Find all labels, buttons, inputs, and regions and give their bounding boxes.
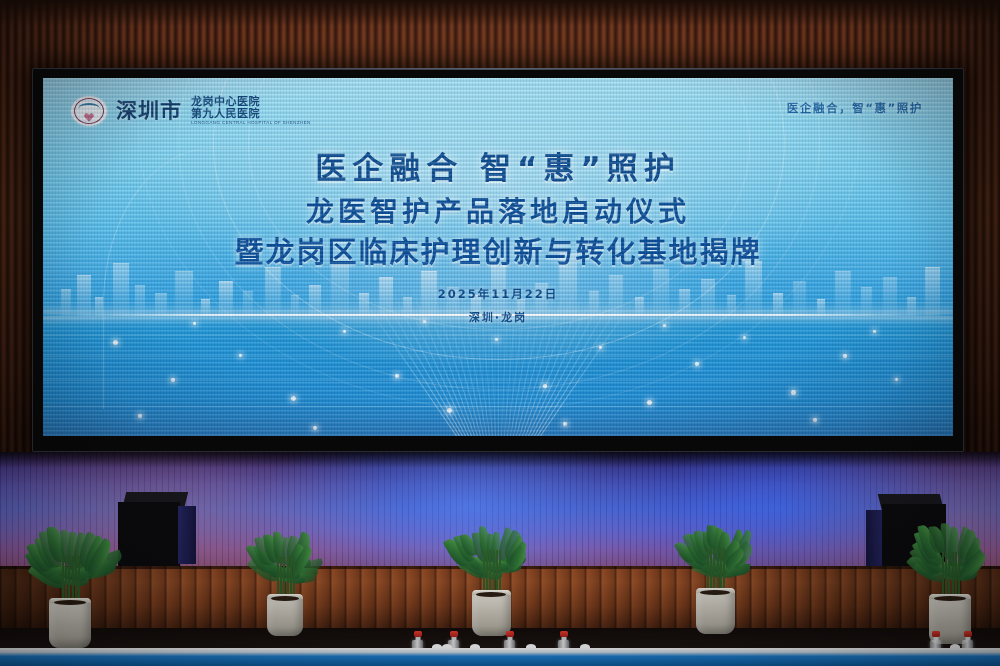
monitor-side-panel — [178, 506, 196, 564]
plant-stalk — [287, 557, 289, 594]
potted-plant — [690, 508, 740, 636]
potted-plant — [466, 510, 516, 638]
bottle-cap — [506, 631, 514, 637]
hospital-city-label: 深圳市 — [116, 101, 182, 122]
plant-stalk — [489, 550, 491, 590]
bezel-highlight — [32, 68, 964, 70]
bottle-cap — [560, 631, 568, 637]
glow-node-icon — [695, 362, 699, 366]
title-line-1: 医企融合 智“惠”照护 — [43, 154, 953, 185]
pot-soil — [700, 590, 730, 595]
stage-monitor-speaker — [118, 492, 200, 570]
plant-stalk — [948, 552, 950, 594]
glow-node-icon — [543, 384, 547, 388]
plant-stalk — [68, 556, 70, 598]
pot-soil — [271, 596, 298, 601]
plant-stalk — [293, 557, 295, 594]
plant-stalk — [713, 548, 715, 588]
plant-stalk — [78, 556, 80, 598]
glow-node-icon — [895, 378, 898, 381]
glow-node-icon — [813, 418, 817, 422]
plant-foliage — [262, 520, 308, 594]
glow-node-icon — [395, 374, 399, 378]
glow-node-icon — [447, 408, 452, 413]
glow-node-icon — [599, 346, 602, 349]
plant-stalk — [72, 556, 74, 598]
led-screen-bezel: 深圳市 龙岗中心医院 第九人民医院 LONGGANG CENTRAL HOSPI… — [32, 68, 964, 452]
glow-node-icon — [138, 414, 142, 418]
glow-node-icon — [647, 400, 652, 405]
plant-stalk — [493, 550, 495, 590]
led-screen-display: 深圳市 龙岗中心医院 第九人民医院 LONGGANG CENTRAL HOSPI… — [43, 78, 953, 436]
conference-hall-scene: 深圳市 龙岗中心医院 第九人民医院 LONGGANG CENTRAL HOSPI… — [0, 0, 1000, 666]
plant-foliage — [42, 514, 98, 598]
bottle-cap — [964, 631, 972, 637]
monitor-front-grille — [118, 502, 180, 568]
plant-foliage — [466, 510, 516, 590]
pot-soil — [934, 596, 966, 601]
plant-stalk — [486, 550, 488, 590]
plant-stalk — [723, 548, 725, 588]
potted-plant — [42, 514, 98, 650]
plant-pot — [472, 590, 511, 636]
bottle-cap — [414, 631, 422, 637]
plant-foliage — [690, 508, 740, 588]
event-place: 深圳·龙岗 — [43, 309, 953, 325]
plant-stalk — [283, 557, 285, 594]
pot-soil — [54, 600, 86, 605]
plant-stalk — [720, 548, 722, 588]
glow-node-icon — [563, 422, 567, 426]
event-date: 2025年11月22日 — [43, 286, 953, 302]
plant-stalk — [75, 556, 77, 598]
front-table-edge — [0, 648, 1000, 650]
plant-stalk — [942, 552, 944, 594]
corner-slogan: 医企融合，智“惠”照护 — [787, 100, 923, 116]
stage-back-shadow — [0, 452, 1000, 468]
glow-node-icon — [843, 354, 847, 358]
glow-node-icon — [313, 426, 317, 430]
plant-stalk — [499, 550, 501, 590]
pot-soil — [476, 592, 506, 597]
bottle-cap — [932, 631, 940, 637]
glow-node-icon — [791, 390, 796, 395]
glow-node-icon — [291, 396, 296, 401]
plant-stalk — [290, 557, 292, 594]
glow-node-icon — [239, 354, 242, 357]
plant-stalk — [717, 548, 719, 588]
hospital-name-line2: 第九人民医院 — [191, 108, 311, 120]
plant-stalk — [277, 557, 279, 594]
plant-stalk — [710, 548, 712, 588]
title-line-2: 龙医智护产品落地启动仪式 — [43, 198, 953, 226]
plant-stalk — [945, 552, 947, 594]
glow-node-icon — [743, 336, 746, 339]
screen-title-block: 医企融合 智“惠”照护 龙医智护产品落地启动仪式 暨龙岗区临床护理创新与转化基地… — [43, 154, 953, 325]
glow-node-icon — [873, 330, 876, 333]
plant-stalk — [707, 548, 709, 588]
glow-node-icon — [171, 378, 175, 382]
plant-stalk — [952, 552, 954, 594]
seal-arc-icon — [78, 103, 100, 115]
plant-stalk — [65, 556, 67, 598]
plant-stalk — [955, 552, 957, 594]
front-table-skirt — [0, 648, 1000, 666]
ceiling-shadow — [0, 0, 1000, 26]
plant-stalk — [483, 550, 485, 590]
plant-stalk — [62, 556, 64, 598]
hospital-name-stack: 龙岗中心医院 第九人民医院 LONGGANG CENTRAL HOSPITAL … — [191, 96, 311, 126]
hospital-seal-icon — [71, 96, 107, 126]
glow-node-icon — [113, 340, 118, 345]
plant-foliage — [922, 510, 978, 594]
hospital-logo: 深圳市 龙岗中心医院 第九人民医院 LONGGANG CENTRAL HOSPI… — [71, 96, 311, 126]
potted-plant — [262, 520, 308, 638]
title-line-3: 暨龙岗区临床护理创新与转化基地揭牌 — [43, 238, 953, 267]
hospital-name-line1: 龙岗中心医院 — [191, 96, 311, 108]
bottle-cap — [450, 631, 458, 637]
plant-pot — [267, 594, 303, 636]
plant-pot — [49, 598, 91, 648]
glow-node-icon — [343, 330, 346, 333]
plant-stalk — [496, 550, 498, 590]
plant-stalk — [958, 552, 960, 594]
potted-plant — [922, 510, 978, 646]
glow-node-icon — [495, 338, 498, 341]
hospital-name-english: LONGGANG CENTRAL HOSPITAL OF SHENZHEN — [191, 121, 311, 126]
plant-stalk — [280, 557, 282, 594]
plant-pot — [696, 588, 735, 634]
